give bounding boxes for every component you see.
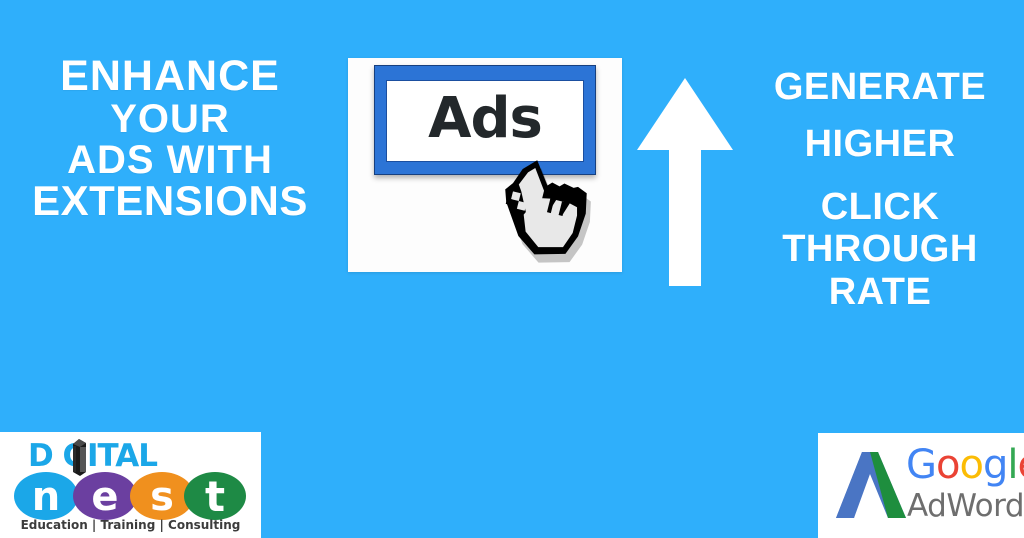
adwords-product-name: AdWords	[907, 491, 1024, 522]
right-headline-line-3: CLICK	[736, 188, 1024, 227]
google-letter-1: o	[936, 442, 959, 488]
google-adwords-logo: Google AdWords	[818, 433, 1024, 538]
adwords-triangle-a-icon	[832, 450, 906, 520]
google-wordmark: Google	[906, 445, 1024, 485]
dark-pillar-i-icon	[71, 438, 87, 476]
left-headline-line-4: EXTENSIONS	[0, 180, 340, 223]
nest-letter-t: t	[205, 472, 225, 520]
google-letter-5: e	[1017, 442, 1024, 488]
right-headline-line-2: HIGHER	[736, 125, 1024, 164]
right-headline-line-5: RATE	[736, 273, 1024, 312]
google-letter-4: l	[1007, 442, 1017, 488]
pointing-hand-cursor-icon	[490, 158, 618, 276]
digital-nest-wordmark-text: D GITAL	[28, 441, 157, 472]
ads-button-label: Ads	[428, 91, 542, 147]
google-letter-2: o	[959, 442, 982, 488]
nest-letter-s: s	[150, 474, 174, 520]
right-headline-line-1: GENERATE	[736, 68, 1024, 107]
google-letter-3: g	[983, 442, 1007, 488]
left-headline-line-2: YOUR	[0, 99, 340, 140]
promo-banner: ENHANCE YOUR ADS WITH EXTENSIONS Ads	[0, 0, 1024, 538]
left-headline-line-1: ENHANCE	[0, 55, 340, 99]
left-headline-line-3: ADS WITH	[0, 140, 340, 181]
ads-button-inner: Ads	[386, 80, 584, 162]
arrow-up-icon	[635, 76, 735, 288]
digital-nest-nest-word: n e s t	[14, 472, 246, 520]
right-headline: GENERATE HIGHER CLICK THROUGH RATE	[736, 68, 1024, 312]
left-headline: ENHANCE YOUR ADS WITH EXTENSIONS	[0, 55, 340, 223]
nest-letter-n: n	[32, 474, 60, 520]
digital-nest-tagline: Education | Training | Consulting	[0, 518, 261, 532]
nest-letter-e: e	[91, 474, 118, 520]
google-letter-0: G	[906, 442, 936, 488]
digital-nest-logo: D GITAL n e s t Education | Training | C…	[0, 432, 261, 538]
right-headline-line-4: THROUGH	[736, 230, 1024, 269]
digital-nest-wordmark: D GITAL	[28, 438, 234, 474]
ads-card: Ads	[348, 58, 622, 272]
